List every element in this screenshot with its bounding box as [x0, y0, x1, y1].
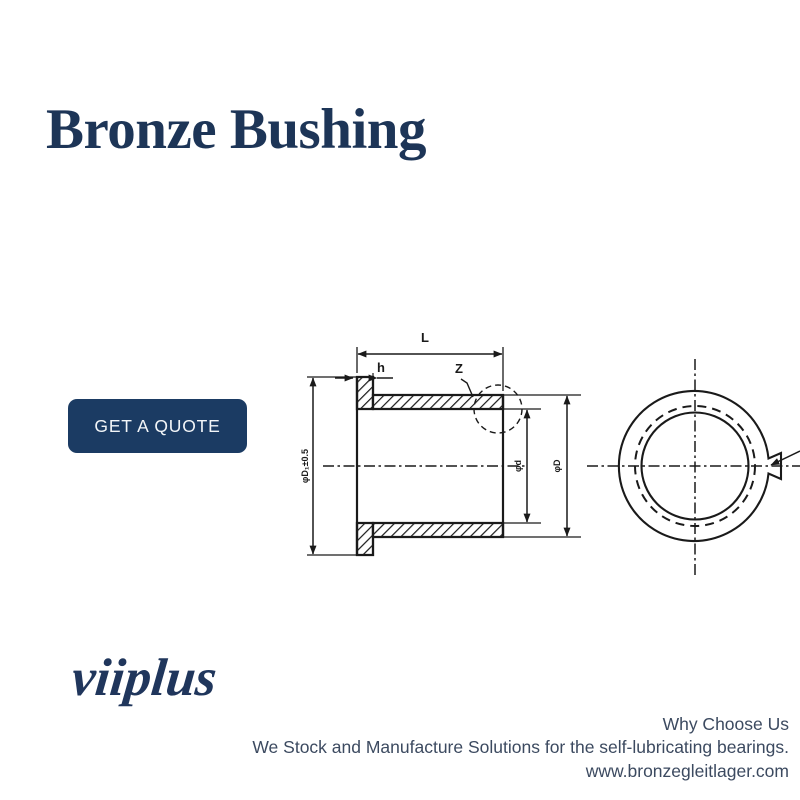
- footer-line-website[interactable]: www.bronzegleitlager.com: [252, 760, 789, 783]
- footer: Why Choose Us We Stock and Manufacture S…: [252, 713, 789, 783]
- dimension-label-L: L: [421, 330, 429, 345]
- get-a-quote-button[interactable]: GET A QUOTE: [68, 399, 247, 453]
- technical-drawing: L h Z: [295, 325, 800, 600]
- dimension-label-Z: Z: [455, 361, 463, 376]
- dimension-label-D1: φD₁±0.5: [300, 449, 310, 483]
- dimension-label-h: h: [377, 360, 385, 375]
- bushing-wall-bottom: [357, 523, 503, 555]
- poster-canvas: Bronze Bushing GET A QUOTE: [0, 0, 800, 800]
- footer-line-tagline: We Stock and Manufacture Solutions for t…: [252, 736, 789, 759]
- dimension-label-d: φd: [513, 460, 523, 472]
- split-notch-arrow: [771, 451, 800, 465]
- dimension-label-D: φD: [552, 459, 562, 472]
- page-title: Bronze Bushing: [46, 101, 426, 158]
- section-view: L h Z: [300, 330, 581, 555]
- end-view: [587, 359, 800, 575]
- bushing-wall-top: [357, 377, 503, 409]
- brand-logo: viiplus: [69, 652, 219, 705]
- footer-line-why-choose-us: Why Choose Us: [252, 713, 789, 736]
